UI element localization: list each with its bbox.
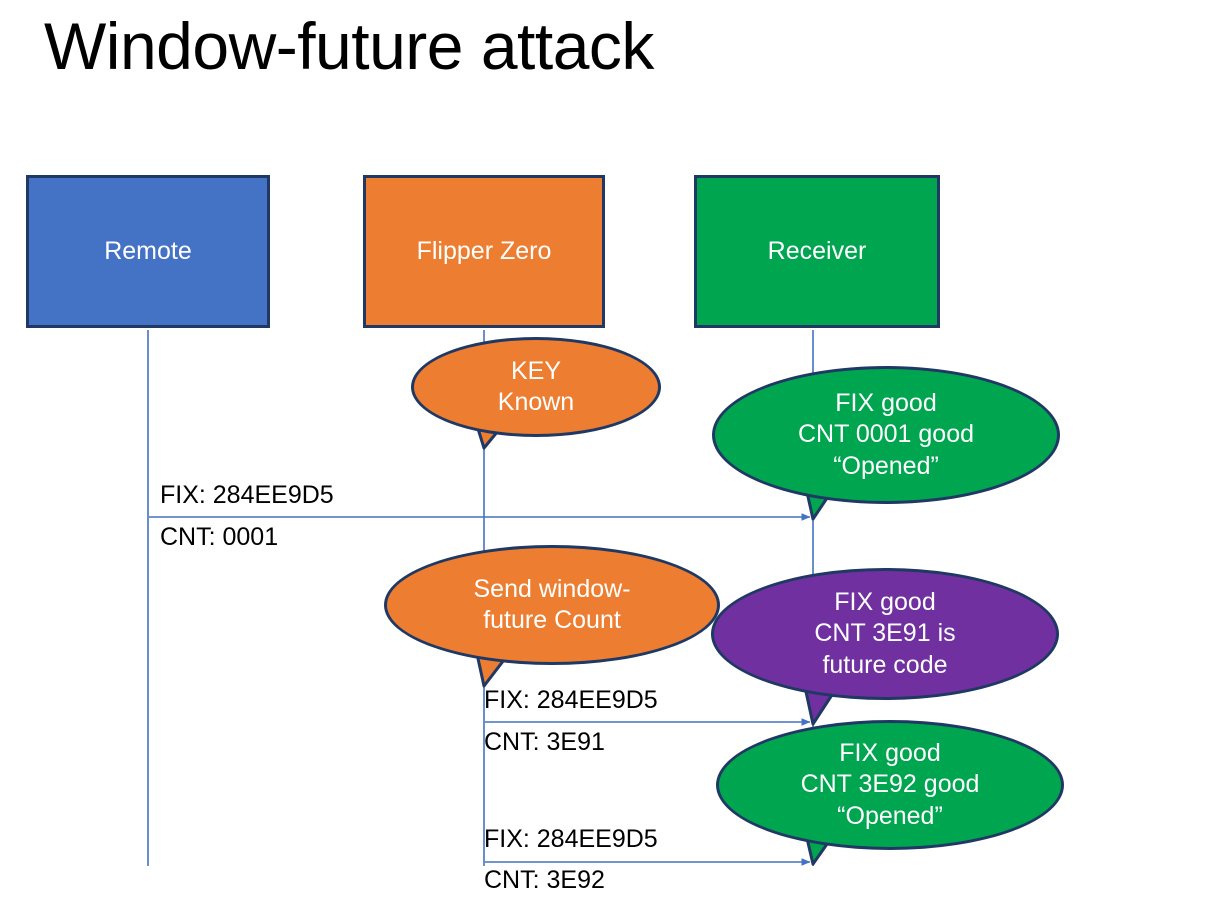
actor-label-flipper: Flipper Zero: [417, 238, 552, 266]
message-2-cnt-label: CNT: 3E91: [484, 728, 605, 757]
actor-box-flipper[interactable]: Flipper Zero: [363, 175, 605, 328]
callout-fix-good-0001[interactable]: FIX good CNT 0001 good “Opened”: [712, 366, 1060, 504]
message-2-fix-label: FIX: 284EE9D5: [484, 686, 658, 715]
callout-fix-good-3e91-future[interactable]: FIX good CNT 3E91 is future code: [711, 568, 1059, 700]
callout-text-fix-good-0001: FIX good CNT 0001 good “Opened”: [788, 388, 984, 482]
callout-send-window-future[interactable]: Send window- future Count: [384, 545, 720, 665]
callout-text-key-known: KEY Known: [488, 356, 584, 419]
message-3-cnt-label: CNT: 3E92: [484, 866, 605, 895]
callout-text-fix-good-3e91-future: FIX good CNT 3E91 is future code: [804, 587, 965, 681]
actor-label-remote: Remote: [104, 238, 192, 266]
callout-key-known[interactable]: KEY Known: [411, 337, 661, 437]
actor-box-receiver[interactable]: Receiver: [694, 175, 940, 328]
actor-label-receiver: Receiver: [768, 238, 867, 266]
slide-canvas: Window-future attack Remote Flipper Zero…: [0, 0, 1216, 898]
message-1-cnt-label: CNT: 0001: [160, 523, 278, 552]
callout-text-send-window-future: Send window- future Count: [463, 574, 640, 637]
callout-fix-good-3e92[interactable]: FIX good CNT 3E92 good “Opened”: [716, 720, 1064, 850]
actor-box-remote[interactable]: Remote: [26, 175, 270, 328]
message-1-fix-label: FIX: 284EE9D5: [160, 481, 334, 510]
message-3-fix-label: FIX: 284EE9D5: [484, 825, 658, 854]
callout-text-fix-good-3e92: FIX good CNT 3E92 good “Opened”: [791, 738, 990, 832]
